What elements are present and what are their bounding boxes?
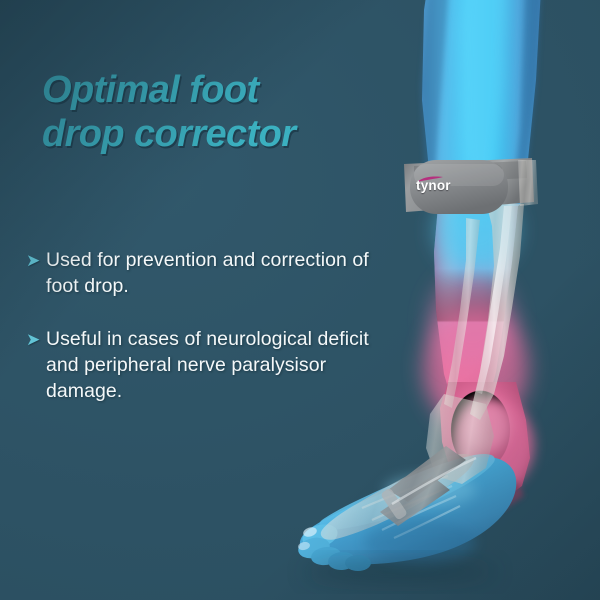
headline-line-2: drop corrector xyxy=(42,112,372,156)
list-item: ➤ Used for prevention and correction of … xyxy=(26,248,378,299)
product-poster: tynor Optimal foot drop corrector ➤ Used… xyxy=(0,0,600,600)
copy-block: Optimal foot drop corrector ➤ Used for p… xyxy=(0,0,390,600)
tynor-swoosh-icon xyxy=(417,170,443,177)
list-item-label: Used for prevention and correction of fo… xyxy=(46,248,378,299)
brand-wordmark: tynor xyxy=(416,178,451,193)
arrow-bullet-icon: ➤ xyxy=(26,252,46,269)
arrow-bullet-icon: ➤ xyxy=(26,331,46,348)
feature-list: ➤ Used for prevention and correction of … xyxy=(26,248,378,433)
list-item: ➤ Useful in cases of neurological defici… xyxy=(26,327,378,404)
page-title: Optimal foot drop corrector xyxy=(42,68,372,156)
headline-line-1: Optimal foot xyxy=(42,69,259,111)
list-item-label: Useful in cases of neurological deficit … xyxy=(46,327,378,404)
